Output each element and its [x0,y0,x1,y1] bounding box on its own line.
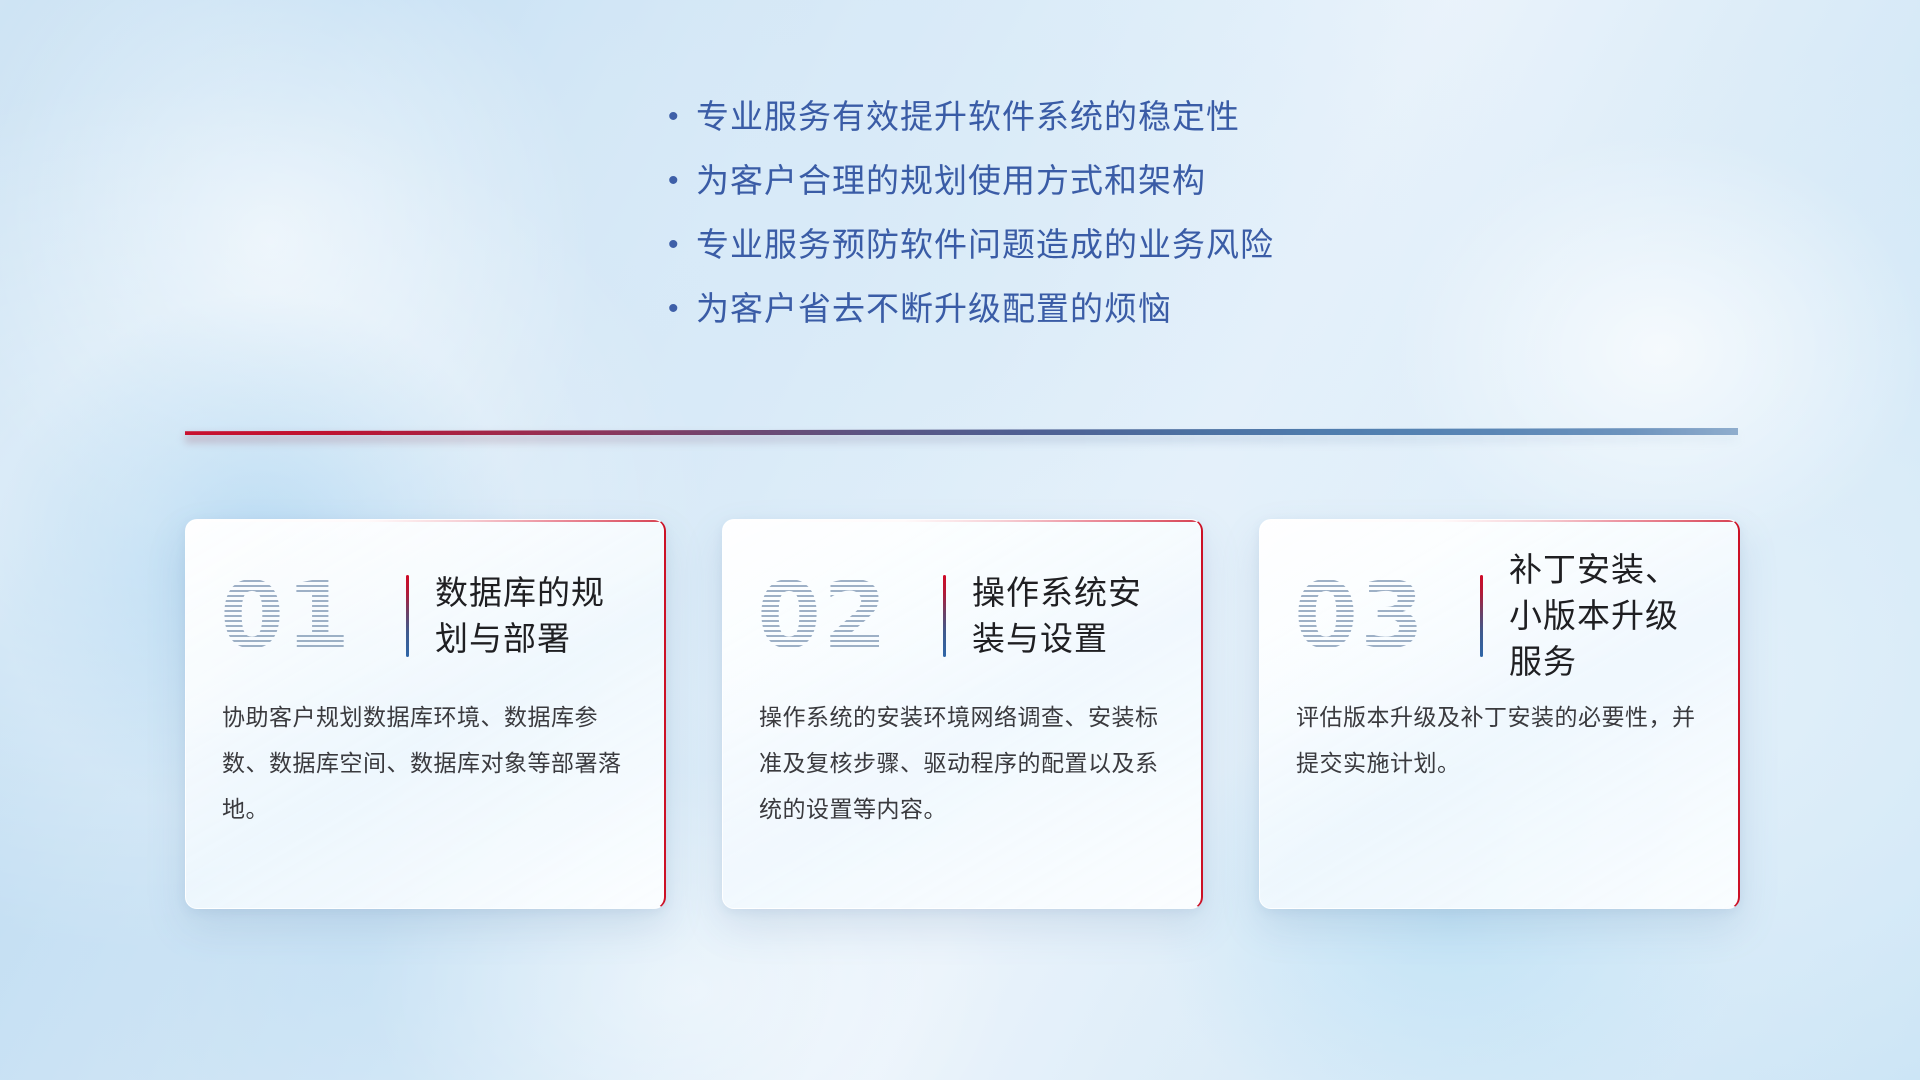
card-description: 评估版本升级及补丁安装的必要性，并提交实施计划。 [1260,682,1738,786]
bullet-text: 专业服务预防软件问题造成的业务风险 [696,224,1274,266]
list-item: • 为客户省去不断升级配置的烦恼 [668,288,1274,352]
card-header: 03 补丁安装、小版本升级服务 [1260,520,1738,682]
service-card-03[interactable]: 03 补丁安装、小版本升级服务 评估版本升级及补丁安装的必要性，并提交实施计划。 [1259,519,1740,909]
card-title: 操作系统安装与设置 [972,570,1167,662]
section-divider [185,424,1738,442]
bullet-text: 为客户省去不断升级配置的烦恼 [696,288,1172,330]
card-number: 01 [220,570,406,662]
divider-shadow [185,434,1738,443]
card-number: 02 [757,570,943,662]
service-card-02[interactable]: 02 操作系统安装与设置 操作系统的安装环境网络调查、安装标准及复核步骤、驱动程… [722,519,1203,909]
card-group: 01 数据库的规划与部署 协助客户规划数据库环境、数据库参数、数据库空间、数据库… [185,519,1740,909]
service-card-01[interactable]: 01 数据库的规划与部署 协助客户规划数据库环境、数据库参数、数据库空间、数据库… [185,519,666,909]
divider-bar [185,428,1738,435]
card-title: 数据库的规划与部署 [435,570,630,662]
card-number: 03 [1294,570,1480,662]
card-description: 操作系统的安装环境网络调查、安装标准及复核步骤、驱动程序的配置以及系统的设置等内… [723,682,1201,832]
card-header: 02 操作系统安装与设置 [723,520,1201,682]
bullet-dot-icon: • [668,224,696,266]
slide-canvas: • 专业服务有效提升软件系统的稳定性 • 为客户合理的规划使用方式和架构 • 专… [0,0,1920,1080]
bullet-list: • 专业服务有效提升软件系统的稳定性 • 为客户合理的规划使用方式和架构 • 专… [668,96,1274,352]
card-divider-rule [943,575,946,657]
card-title: 补丁安装、小版本升级服务 [1509,547,1704,685]
bullet-text: 为客户合理的规划使用方式和架构 [696,160,1206,202]
bullet-dot-icon: • [668,288,696,330]
list-item: • 专业服务有效提升软件系统的稳定性 [668,96,1274,160]
card-divider-rule [406,575,409,657]
list-item: • 专业服务预防软件问题造成的业务风险 [668,224,1274,288]
card-divider-rule [1480,575,1483,657]
card-description: 协助客户规划数据库环境、数据库参数、数据库空间、数据库对象等部署落地。 [186,682,664,832]
card-header: 01 数据库的规划与部署 [186,520,664,682]
bullet-dot-icon: • [668,160,696,202]
bullet-dot-icon: • [668,96,696,138]
bullet-text: 专业服务有效提升软件系统的稳定性 [696,96,1240,138]
list-item: • 为客户合理的规划使用方式和架构 [668,160,1274,224]
